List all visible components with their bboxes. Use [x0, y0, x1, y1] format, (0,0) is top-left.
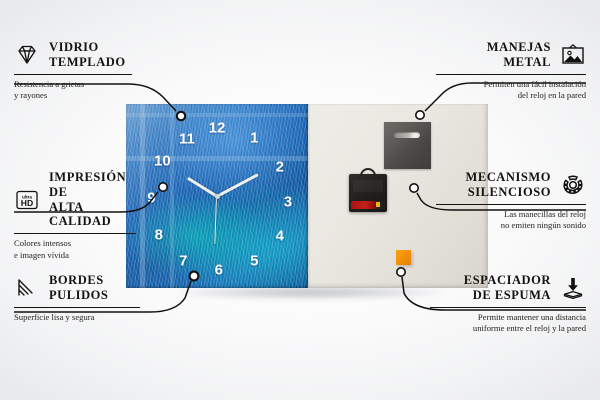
callout-desc: Permite mantener una distancia uniforme …	[428, 312, 586, 335]
hanger-slot	[394, 132, 420, 138]
callout-head: VIDRIO TEMPLADO	[14, 40, 134, 70]
clock-front: 12 1 2 3 4 5 6 7 8 9 10 11	[126, 104, 308, 288]
clock-edge-shading	[126, 104, 308, 288]
callout-title: MECANISMO SILENCIOSO	[465, 170, 551, 200]
callout-desc: Superficie lisa y segura	[14, 312, 142, 323]
gear-icon	[560, 173, 586, 197]
callout-title: BORDES PULIDOS	[49, 273, 108, 303]
callout-rule	[14, 233, 136, 234]
callout-hd-printing[interactable]: ultra HD IMPRESIÓN DE ALTA CALIDAD Color…	[14, 170, 138, 261]
callout-head: MECANISMO SILENCIOSO	[434, 170, 586, 200]
clock-mechanism	[349, 174, 387, 212]
picture-hanger-icon	[560, 43, 586, 67]
callout-silent-mechanism[interactable]: MECANISMO SILENCIOSO	[434, 170, 586, 232]
callout-head: ESPACIADOR DE ESPUMA	[428, 273, 586, 303]
callout-desc: Permiten una fácil instalación del reloj…	[434, 79, 586, 102]
callout-desc: Las manecillas del reloj no emiten ningú…	[434, 209, 586, 232]
mechanism-housing-detail	[353, 180, 383, 192]
callout-title: MANEJAS METAL	[487, 40, 551, 70]
callout-foam-spacer[interactable]: ESPACIADOR DE ESPUMA Permite mantener un…	[428, 273, 586, 335]
diamond-icon	[14, 43, 40, 67]
callout-rule	[436, 204, 586, 205]
callout-polished-edges[interactable]: BORDES PULIDOS Superficie lisa y segura	[14, 273, 142, 323]
callout-desc: Resistencia a grietas y rayones	[14, 79, 134, 102]
callout-head: ultra HD IMPRESIÓN DE ALTA CALIDAD	[14, 170, 138, 229]
foam-spacer-icon	[560, 276, 586, 300]
mechanism-battery-compartment	[351, 201, 385, 209]
polished-edges-icon	[14, 276, 40, 300]
infographic-canvas: 12 1 2 3 4 5 6 7 8 9 10 11	[0, 0, 600, 400]
callout-head: MANEJAS METAL	[434, 40, 586, 70]
callout-title: ESPACIADOR DE ESPUMA	[464, 273, 551, 303]
callout-title: VIDRIO TEMPLADO	[49, 40, 126, 70]
callout-rule	[436, 74, 586, 75]
callout-rule	[14, 74, 132, 75]
callout-desc: Colores intensos e imagen vívida	[14, 238, 138, 261]
metal-hanger-plate	[384, 122, 431, 169]
callout-rule	[14, 307, 140, 308]
callout-head: BORDES PULIDOS	[14, 273, 142, 303]
mechanism-hanging-loop	[360, 168, 376, 177]
callout-title: IMPRESIÓN DE ALTA CALIDAD	[49, 170, 138, 229]
foam-spacer-pad	[396, 250, 411, 265]
svg-text:HD: HD	[21, 198, 33, 208]
callout-rule	[430, 307, 586, 308]
ultra-hd-icon: ultra HD	[14, 188, 40, 212]
callout-metal-handles[interactable]: MANEJAS METAL Permiten una fácil instala…	[434, 40, 586, 102]
callout-tempered-glass[interactable]: VIDRIO TEMPLADO Resistencia a grietas y …	[14, 40, 134, 102]
